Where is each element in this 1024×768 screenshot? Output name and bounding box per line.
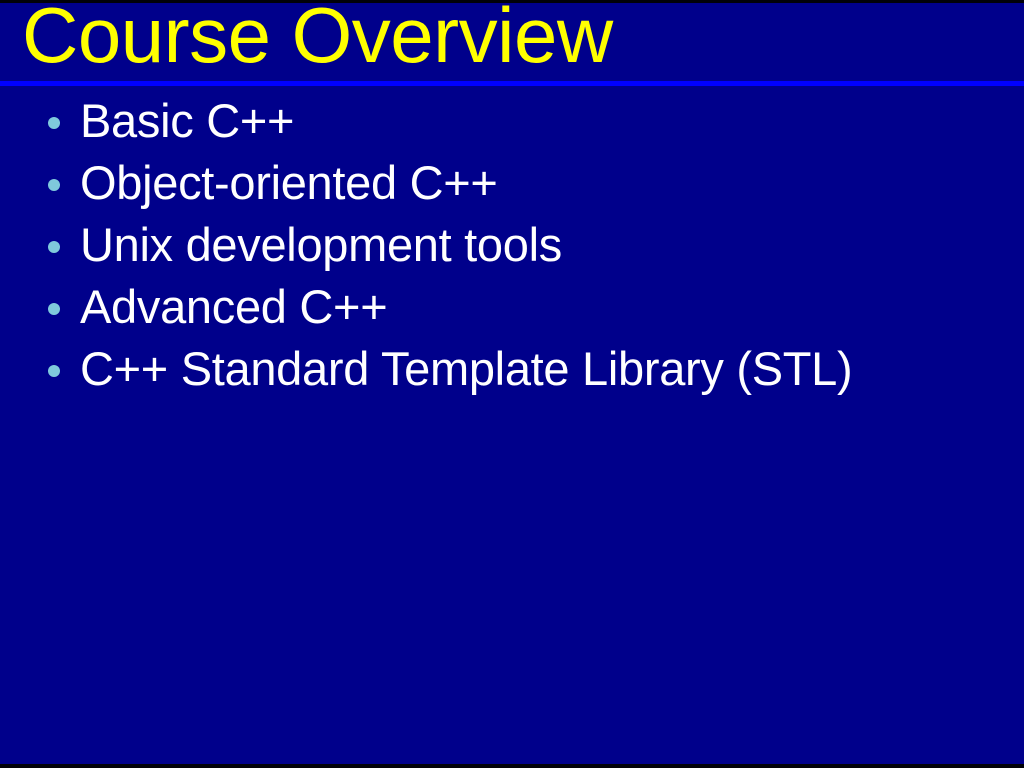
presentation-slide: Course Overview Basic C++ Object-oriente…	[0, 0, 1024, 768]
list-item-label: Advanced C++	[80, 279, 1024, 335]
bullet-dot-icon	[48, 241, 60, 253]
title-divider-rule	[0, 81, 1024, 86]
slide-title-block: Course Overview	[0, 0, 1024, 82]
list-item: Basic C++	[0, 93, 1024, 155]
slide-bottom-edge	[0, 764, 1024, 768]
list-item-label: Unix development tools	[80, 217, 1024, 273]
bullet-list: Basic C++ Object-oriented C++ Unix devel…	[0, 93, 1024, 403]
page-title: Course Overview	[22, 0, 613, 76]
bullet-dot-icon	[48, 179, 60, 191]
list-item-label: Object-oriented C++	[80, 155, 1024, 211]
list-item: Unix development tools	[0, 217, 1024, 279]
list-item: C++ Standard Template Library (STL)	[0, 341, 1024, 403]
list-item: Advanced C++	[0, 279, 1024, 341]
bullet-dot-icon	[48, 365, 60, 377]
bullet-dot-icon	[48, 303, 60, 315]
list-item-label: Basic C++	[80, 93, 1024, 149]
bullet-dot-icon	[48, 117, 60, 129]
list-item: Object-oriented C++	[0, 155, 1024, 217]
list-item-label: C++ Standard Template Library (STL)	[80, 341, 1024, 397]
